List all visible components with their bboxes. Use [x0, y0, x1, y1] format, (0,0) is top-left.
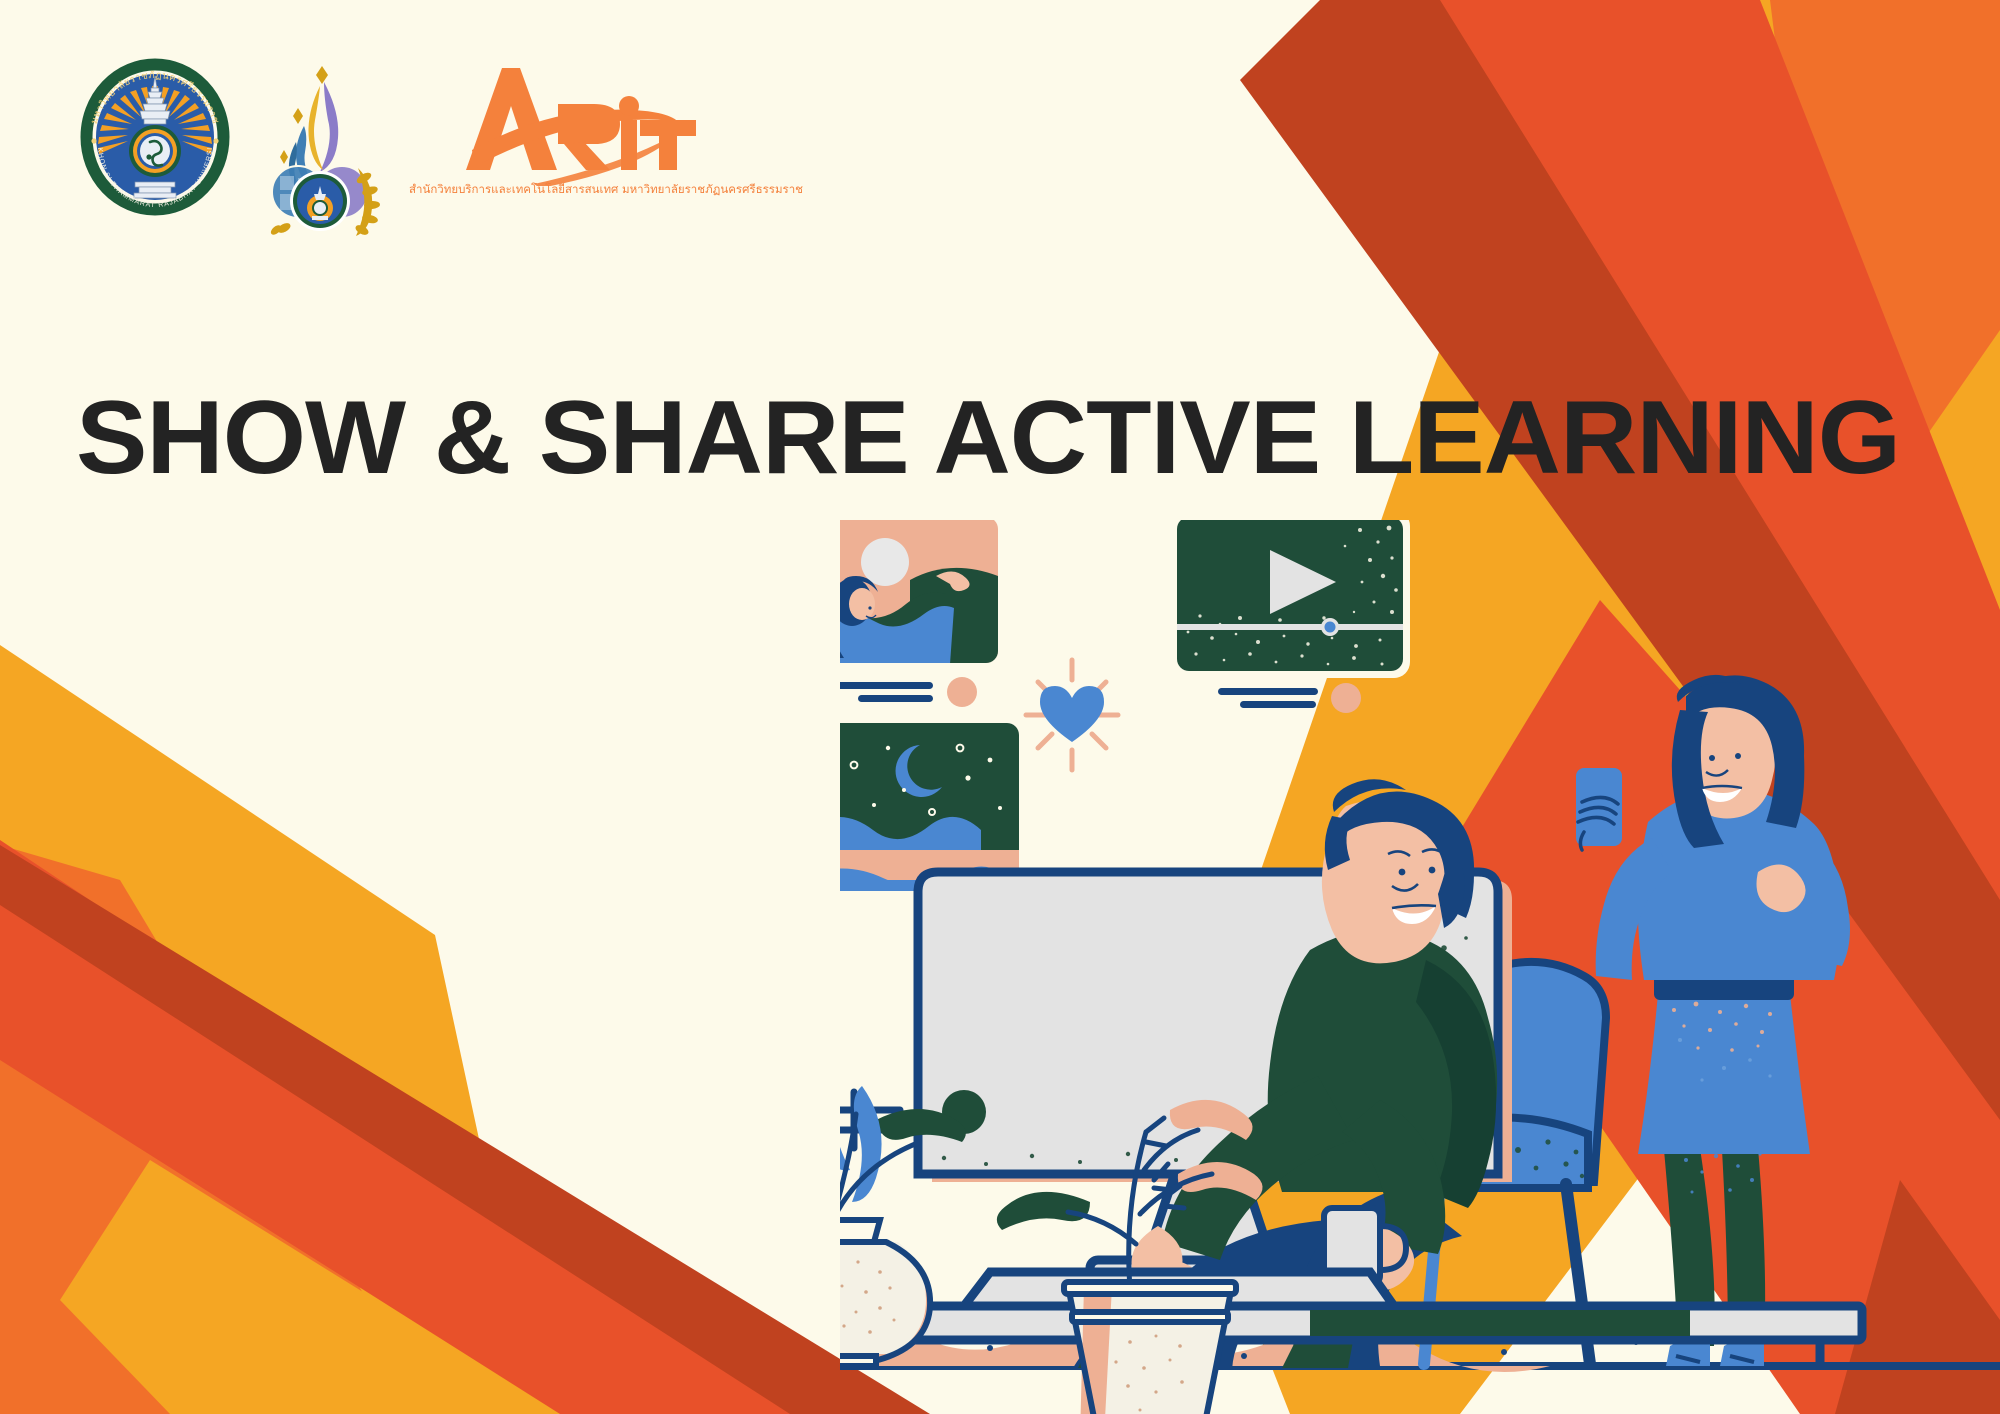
diamond-mid	[293, 108, 303, 124]
page-title: SHOW & SHARE ACTIVE LEARNING	[76, 386, 1889, 490]
card-caption-right	[1218, 683, 1361, 713]
arit-logo: สำนักวิทยบริการและเทคโนโลยีสารสนเทศ มหาว…	[408, 58, 708, 218]
card-caption-left	[840, 677, 977, 707]
illustration	[840, 520, 2000, 1414]
flame-gold	[308, 86, 323, 170]
arit-subtitle: สำนักวิทยบริการและเทคโนโลยีสารสนเทศ มหาว…	[409, 183, 729, 196]
photo-card-beach	[840, 520, 1005, 670]
anniversary-flame-emblem	[254, 58, 384, 236]
bottom-left-shapes	[0, 645, 930, 1414]
logo-row: มหาวิทยาลัยราชภัฏนครศรีธรรมราช NAKHON SI…	[80, 58, 708, 236]
poster-canvas: มหาวิทยาลัยราชภัฏนครศรีธรรมราช NAKHON SI…	[0, 0, 2000, 1414]
diamond-low	[280, 150, 288, 164]
arit-letter-i	[621, 120, 637, 170]
university-seal-logo: มหาวิทยาลัยราชภัฏนครศรีธรรมราช NAKHON SI…	[80, 58, 230, 216]
flame-purple	[320, 82, 338, 172]
heart-sparkle-reaction	[1026, 660, 1118, 770]
video-card[interactable]	[1170, 520, 1410, 678]
standing-woman-with-phone	[1576, 675, 1850, 1366]
diamond-top	[316, 66, 328, 84]
